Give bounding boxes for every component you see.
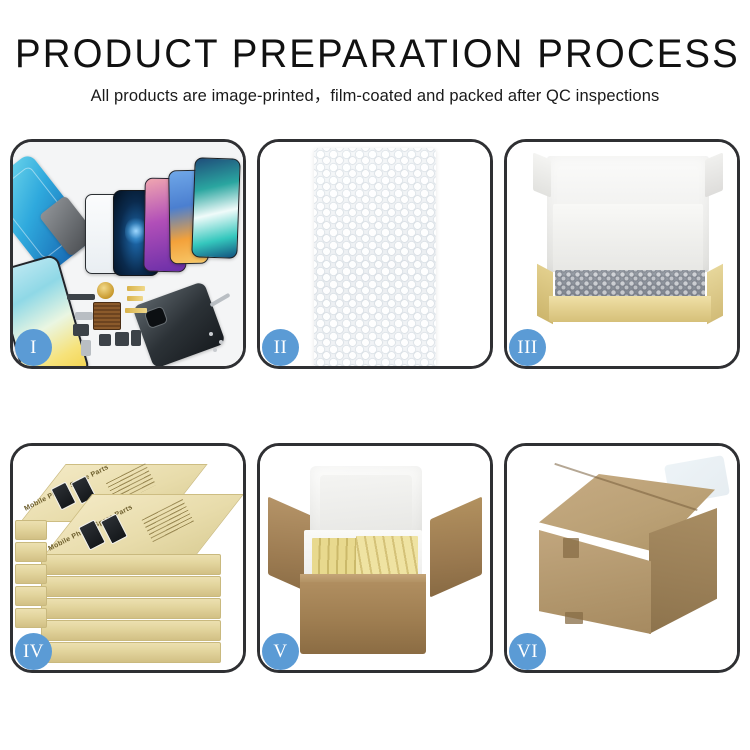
step-image-1 — [13, 142, 243, 366]
teal-phone-image — [191, 157, 240, 259]
kraft-box-edge-3 — [41, 598, 221, 619]
camera-module-part — [73, 324, 89, 336]
step-panel-2[interactable]: II — [257, 139, 493, 369]
kraft-box-front-image — [549, 296, 711, 322]
kraft-box-rear-edge-5 — [15, 608, 47, 628]
page-title: PRODUCT PREPARATION PROCESS — [15, 32, 735, 76]
kraft-box-rear-edge-2 — [15, 542, 47, 562]
carton-front-image — [300, 582, 426, 654]
step-panel-5[interactable]: V — [257, 443, 493, 673]
carton-tape-upper — [563, 538, 579, 558]
step-badge-6: VI — [509, 633, 546, 670]
foam-lid-image — [310, 466, 422, 540]
step-image-2 — [260, 142, 490, 366]
page-header: PRODUCT PREPARATION PROCESS All products… — [0, 0, 750, 106]
grey-bubble-foam-image — [555, 270, 705, 298]
button-part — [99, 334, 111, 346]
bubble-wrap-bag-image — [314, 148, 436, 366]
step-badge-5: V — [262, 633, 299, 670]
screw-part-a — [209, 332, 213, 336]
flex-cable-part-a — [127, 286, 145, 291]
logic-board-chip-part — [93, 302, 121, 330]
step-panel-3[interactable]: III — [504, 139, 740, 369]
speaker-mesh-part — [67, 294, 95, 300]
step-image-5 — [260, 446, 490, 670]
screw-part-b — [219, 340, 223, 344]
step-badge-1: I — [15, 329, 52, 366]
step-panel-4[interactable]: Mobile Phone Spare Parts Mobile Phone Sp… — [10, 443, 246, 673]
kraft-box-edge-2 — [41, 576, 221, 597]
connector-part — [131, 330, 141, 346]
screw-part-c — [213, 348, 217, 352]
step-panel-6[interactable]: VI — [504, 443, 740, 673]
bracket-part — [75, 312, 93, 320]
kraft-box-edge-4 — [41, 620, 221, 641]
step-badge-3: III — [509, 329, 546, 366]
step-badge-4: IV — [15, 633, 52, 670]
flex-cable-part-c — [125, 308, 147, 313]
kraft-box-rear-edge-3 — [15, 564, 47, 584]
step-image-3 — [507, 142, 737, 366]
kraft-box-edge-5 — [41, 642, 221, 663]
kraft-box-edge-1 — [41, 554, 221, 575]
kraft-box-rear-edge-1 — [15, 520, 47, 540]
step-badge-2: II — [262, 329, 299, 366]
vibration-motor-part — [97, 282, 114, 299]
flex-cable-part-b — [127, 296, 143, 301]
carton-tape-lower — [565, 612, 583, 624]
sim-tray-part — [81, 340, 91, 356]
taptic-engine-part — [115, 332, 129, 346]
white-foam-sheet-image — [553, 204, 703, 272]
page-subtitle: All products are image-printed，film-coat… — [0, 86, 750, 106]
box-stack-image: Mobile Phone Spare Parts Mobile Phone Sp… — [13, 458, 243, 668]
step-panel-1[interactable]: I — [10, 139, 246, 369]
step-image-6 — [507, 446, 737, 670]
kraft-box-rear-edge-4 — [15, 586, 47, 606]
step-image-4: Mobile Phone Spare Parts Mobile Phone Sp… — [13, 446, 243, 670]
process-step-grid: I II III — [10, 139, 740, 683]
